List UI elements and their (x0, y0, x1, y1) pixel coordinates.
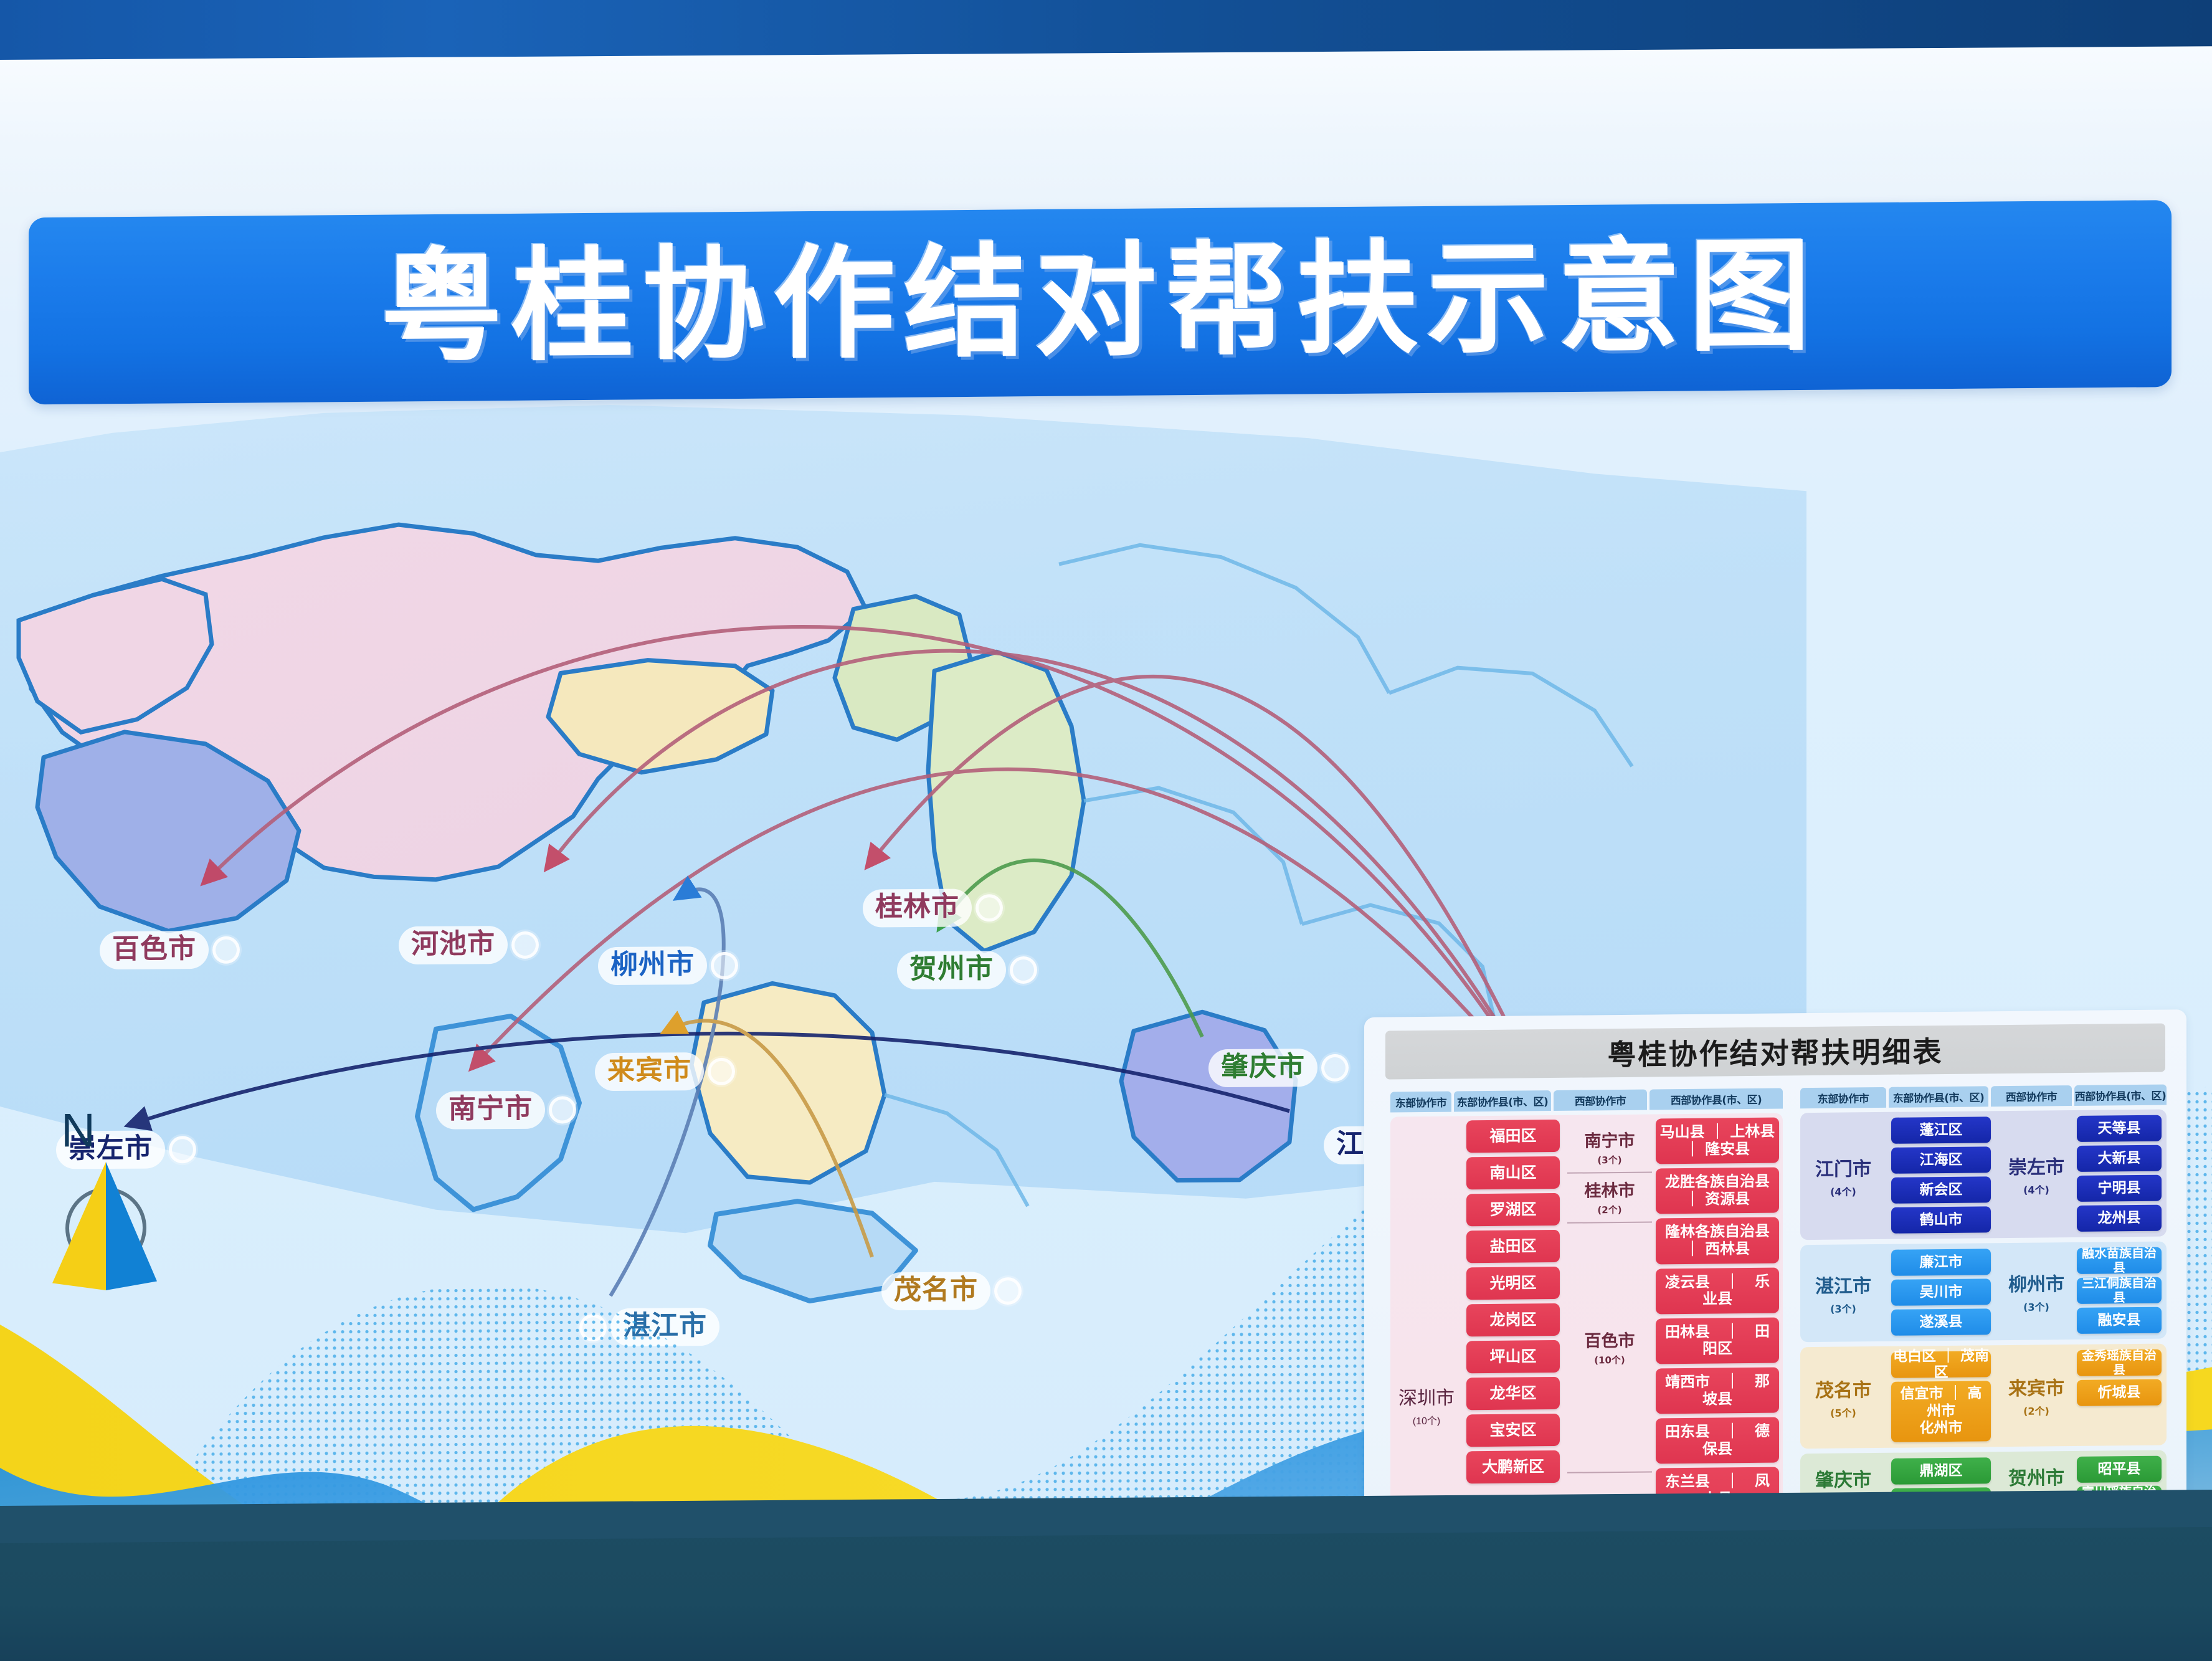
header-east-city: 东部协作市 (1390, 1092, 1451, 1113)
west-city-name: 贺州市 (2008, 1462, 2064, 1490)
east-district-column: 廉江市吴川市遂溪县 (1886, 1243, 1996, 1341)
west-city-count: (3个) (1597, 1153, 1621, 1166)
east-district-chip-5[interactable]: 龙岗区 (1466, 1303, 1560, 1336)
west-county-chip-0-2[interactable]: 宁明县 (2077, 1175, 2162, 1202)
east-district-chip-1-1[interactable]: 吴川市 (1891, 1278, 1991, 1306)
header-east-city-2: 东部协作市 (1800, 1087, 1886, 1108)
detail-table-panel: 粤桂协作结对帮扶明细表 东部协作市 东部协作县(市、区) 西部协作市 西部协作县… (1364, 1009, 2186, 1528)
table-right-group-2: 茂名市(5个)电白区 ｜ 茂南区信宜市 ｜ 高州市化州市来宾市(2个)金秀瑶族自… (1800, 1344, 2167, 1449)
poster-board: 粤桂协作结对帮扶示意图 (0, 46, 2212, 1521)
west-city-count: (2个) (1597, 1203, 1621, 1216)
header-west-city-2: 西部协作市 (1991, 1085, 2072, 1107)
east-district-chip-2-0[interactable]: 电白区 ｜ 茂南区 (1891, 1351, 1991, 1378)
page-title: 粤桂协作结对帮扶示意图 (381, 236, 1820, 369)
east-district-chip-6[interactable]: 坪山区 (1466, 1340, 1560, 1373)
west-city-桂林市[interactable]: 桂林市(2个) (1564, 1173, 1656, 1221)
map-city-marker-icon (975, 894, 1003, 921)
east-district-chip-2[interactable]: 罗湖区 (1466, 1193, 1560, 1226)
header-east-district-2: 东部协作县(市、区) (1889, 1086, 1988, 1108)
west-city-南宁市[interactable]: 南宁市(3个) (1564, 1123, 1656, 1170)
west-county-chip-2-1[interactable]: 凌云县 ｜ 乐业县 (1656, 1267, 1779, 1314)
east-city-江门市[interactable]: 江门市(4个) (1800, 1112, 1886, 1240)
map-city-name: 柳州市 (598, 946, 707, 985)
map-city-name: 河池市 (399, 926, 508, 964)
west-county-column: 金秀瑶族自治县忻城县 (2077, 1344, 2167, 1446)
east-city-name: 深圳市 (1398, 1382, 1455, 1410)
west-county-chip-2-3[interactable]: 靖西市 ｜ 那坡县 (1656, 1367, 1779, 1414)
header-west-city: 西部协作市 (1554, 1090, 1647, 1111)
west-county-chip-0-1[interactable]: 大新县 (2077, 1145, 2162, 1172)
map-city-marker-icon (1010, 956, 1037, 983)
east-city-茂名市[interactable]: 茂名市(5个) (1800, 1346, 1886, 1449)
east-district-chip-8[interactable]: 宝安区 (1466, 1414, 1560, 1447)
east-district-chip-9[interactable]: 大鹏新区 (1466, 1450, 1560, 1483)
west-city-count: (4个) (2023, 1181, 2049, 1196)
west-county-chip-1-1[interactable]: 三江侗族自治县 (2077, 1277, 2162, 1304)
west-county-chip-2-0[interactable]: 隆林各族自治县 ｜ 西林县 (1656, 1217, 1779, 1264)
east-city-name: 湛江市 (1815, 1270, 1871, 1298)
west-city-name: 桂林市 (1585, 1177, 1635, 1202)
west-county-chip-1-2[interactable]: 融安县 (2077, 1307, 2162, 1334)
table-left-header-row: 东部协作市 东部协作县(市、区) 西部协作市 西部协作县(市、区) (1390, 1088, 1783, 1112)
east-district-chip-4[interactable]: 光明区 (1466, 1267, 1560, 1300)
west-county-chip-2-2[interactable]: 田林县 ｜ 田阳区 (1656, 1317, 1779, 1364)
west-county-column: 融水苗族自治县三江侗族自治县融安县 (2077, 1242, 2167, 1340)
map-city-label-1[interactable]: 河池市 (399, 926, 539, 965)
east-city-count: (4个) (1830, 1183, 1856, 1198)
map-city-label-4[interactable]: 贺州市 (897, 951, 1037, 990)
header-west-county-2: 西部协作县(市、区) (2074, 1085, 2167, 1106)
map-city-marker-icon (711, 951, 738, 979)
west-city-柳州市[interactable]: 柳州市(3个) (1996, 1242, 2077, 1340)
header-east-district: 东部协作县(市、区) (1454, 1090, 1551, 1111)
map-city-marker-icon (511, 931, 539, 958)
east-city-name: 茂名市 (1815, 1375, 1871, 1403)
west-city-name: 南宁市 (1585, 1127, 1635, 1152)
east-district-chip-3[interactable]: 盐田区 (1466, 1230, 1560, 1263)
east-city-name: 江门市 (1815, 1153, 1871, 1181)
east-city-count: (3个) (1830, 1300, 1856, 1315)
west-city-count: (10个) (1594, 1353, 1625, 1366)
west-county-chip-2-0[interactable]: 金秀瑶族自治县 (2077, 1349, 2162, 1376)
east-city-count: (5个) (1830, 1405, 1856, 1420)
poster-photo: 粤桂协作结对帮扶示意图 (0, 0, 2212, 1661)
table-right-header-row: 东部协作市 东部协作县(市、区) 西部协作市 西部协作县(市、区) (1800, 1085, 2167, 1109)
east-district-chip-0-1[interactable]: 江海区 (1891, 1146, 1991, 1174)
west-county-chip-2-1[interactable]: 忻城县 (2077, 1379, 2162, 1406)
west-county-chip-0-3[interactable]: 龙州县 (2077, 1205, 2162, 1232)
east-district-chip-7[interactable]: 龙华区 (1466, 1377, 1560, 1410)
east-district-column: 蓬江区江海区新会区鹤山市 (1886, 1111, 1996, 1239)
table-right-group-0: 江门市(4个)蓬江区江海区新会区鹤山市崇左市(4个)天等县大新县宁明县龙州县 (1800, 1110, 2167, 1240)
table-right: 东部协作市 东部协作县(市、区) 西部协作市 西部协作县(市、区) 江门市(4个… (1800, 1085, 2167, 1526)
west-county-chip-2-4[interactable]: 田东县 ｜ 德保县 (1656, 1417, 1779, 1464)
east-district-chip-0-3[interactable]: 鹤山市 (1891, 1206, 1991, 1234)
west-city-name: 柳州市 (2008, 1268, 2064, 1297)
west-county-chip-0-0[interactable]: 天等县 (2077, 1115, 2162, 1142)
west-city-name: 崇左市 (2008, 1151, 2064, 1179)
east-city-name: 肇庆市 (1815, 1464, 1871, 1492)
east-district-chip-1[interactable]: 南山区 (1466, 1156, 1560, 1189)
west-city-name: 百色市 (1585, 1327, 1635, 1352)
east-city-count: (10个) (1413, 1412, 1440, 1427)
wall-bottom-strip (0, 1514, 2212, 1661)
map-city-name: 百色市 (100, 931, 209, 969)
east-district-column: 电白区 ｜ 茂南区信宜市 ｜ 高州市化州市 (1886, 1345, 1996, 1447)
poster-title-banner: 粤桂协作结对帮扶示意图 (29, 200, 2172, 404)
east-district-chip-2-1[interactable]: 信宜市 ｜ 高州市化州市 (1891, 1381, 1991, 1442)
west-county-chip-0-0[interactable]: 马山县 ｜ 上林县 ｜ 隆安县 (1656, 1118, 1779, 1164)
east-district-chip-3-0[interactable]: 鼎湖区 (1891, 1457, 1991, 1485)
header-west-county: 西部协作县(市、区) (1650, 1088, 1783, 1110)
map-city-name: 桂林市 (863, 888, 972, 927)
west-county-chip-1-0[interactable]: 融水苗族自治县 (2077, 1247, 2162, 1274)
west-county-chip-1-0[interactable]: 龙胜各族自治县 ｜ 资源县 (1656, 1168, 1779, 1214)
table-right-group-1: 湛江市(3个)廉江市吴川市遂溪县柳州市(3个)融水苗族自治县三江侗族自治县融安县 (1800, 1242, 2167, 1343)
west-city-count: (3个) (2023, 1298, 2049, 1313)
west-county-column: 天等县大新县宁明县龙州县 (2077, 1110, 2167, 1237)
detail-table-title-bar: 粤桂协作结对帮扶明细表 (1385, 1024, 2165, 1080)
east-district-chip-0-2[interactable]: 新会区 (1891, 1176, 1991, 1204)
east-district-chip-0[interactable]: 福田区 (1466, 1120, 1560, 1153)
east-city-湛江市[interactable]: 湛江市(3个) (1800, 1244, 1886, 1342)
map-city-name: 贺州市 (897, 951, 1006, 989)
east-district-chip-1-2[interactable]: 遂溪县 (1891, 1308, 1991, 1336)
west-city-崇左市[interactable]: 崇左市(4个) (1996, 1110, 2077, 1238)
west-county-chip-3-0[interactable]: 昭平县 (2077, 1455, 2162, 1482)
map-city-label-3[interactable]: 柳州市 (598, 946, 738, 986)
east-district-chip-1-0[interactable]: 廉江市 (1891, 1249, 1991, 1276)
map-city-marker-icon (212, 936, 240, 963)
detail-table-title: 粤桂协作结对帮扶明细表 (1608, 1029, 1944, 1073)
west-city-百色市[interactable]: 百色市(10个) (1564, 1223, 1656, 1470)
east-district-chip-0-0[interactable]: 蓬江区 (1891, 1116, 1991, 1144)
west-city-来宾市[interactable]: 来宾市(2个) (1996, 1345, 2077, 1447)
west-city-count: (2个) (2023, 1403, 2049, 1418)
map-city-label-2[interactable]: 桂林市 (863, 888, 1003, 928)
map-city-label-0[interactable]: 百色市 (100, 931, 240, 970)
west-city-name: 来宾市 (2008, 1373, 2064, 1401)
